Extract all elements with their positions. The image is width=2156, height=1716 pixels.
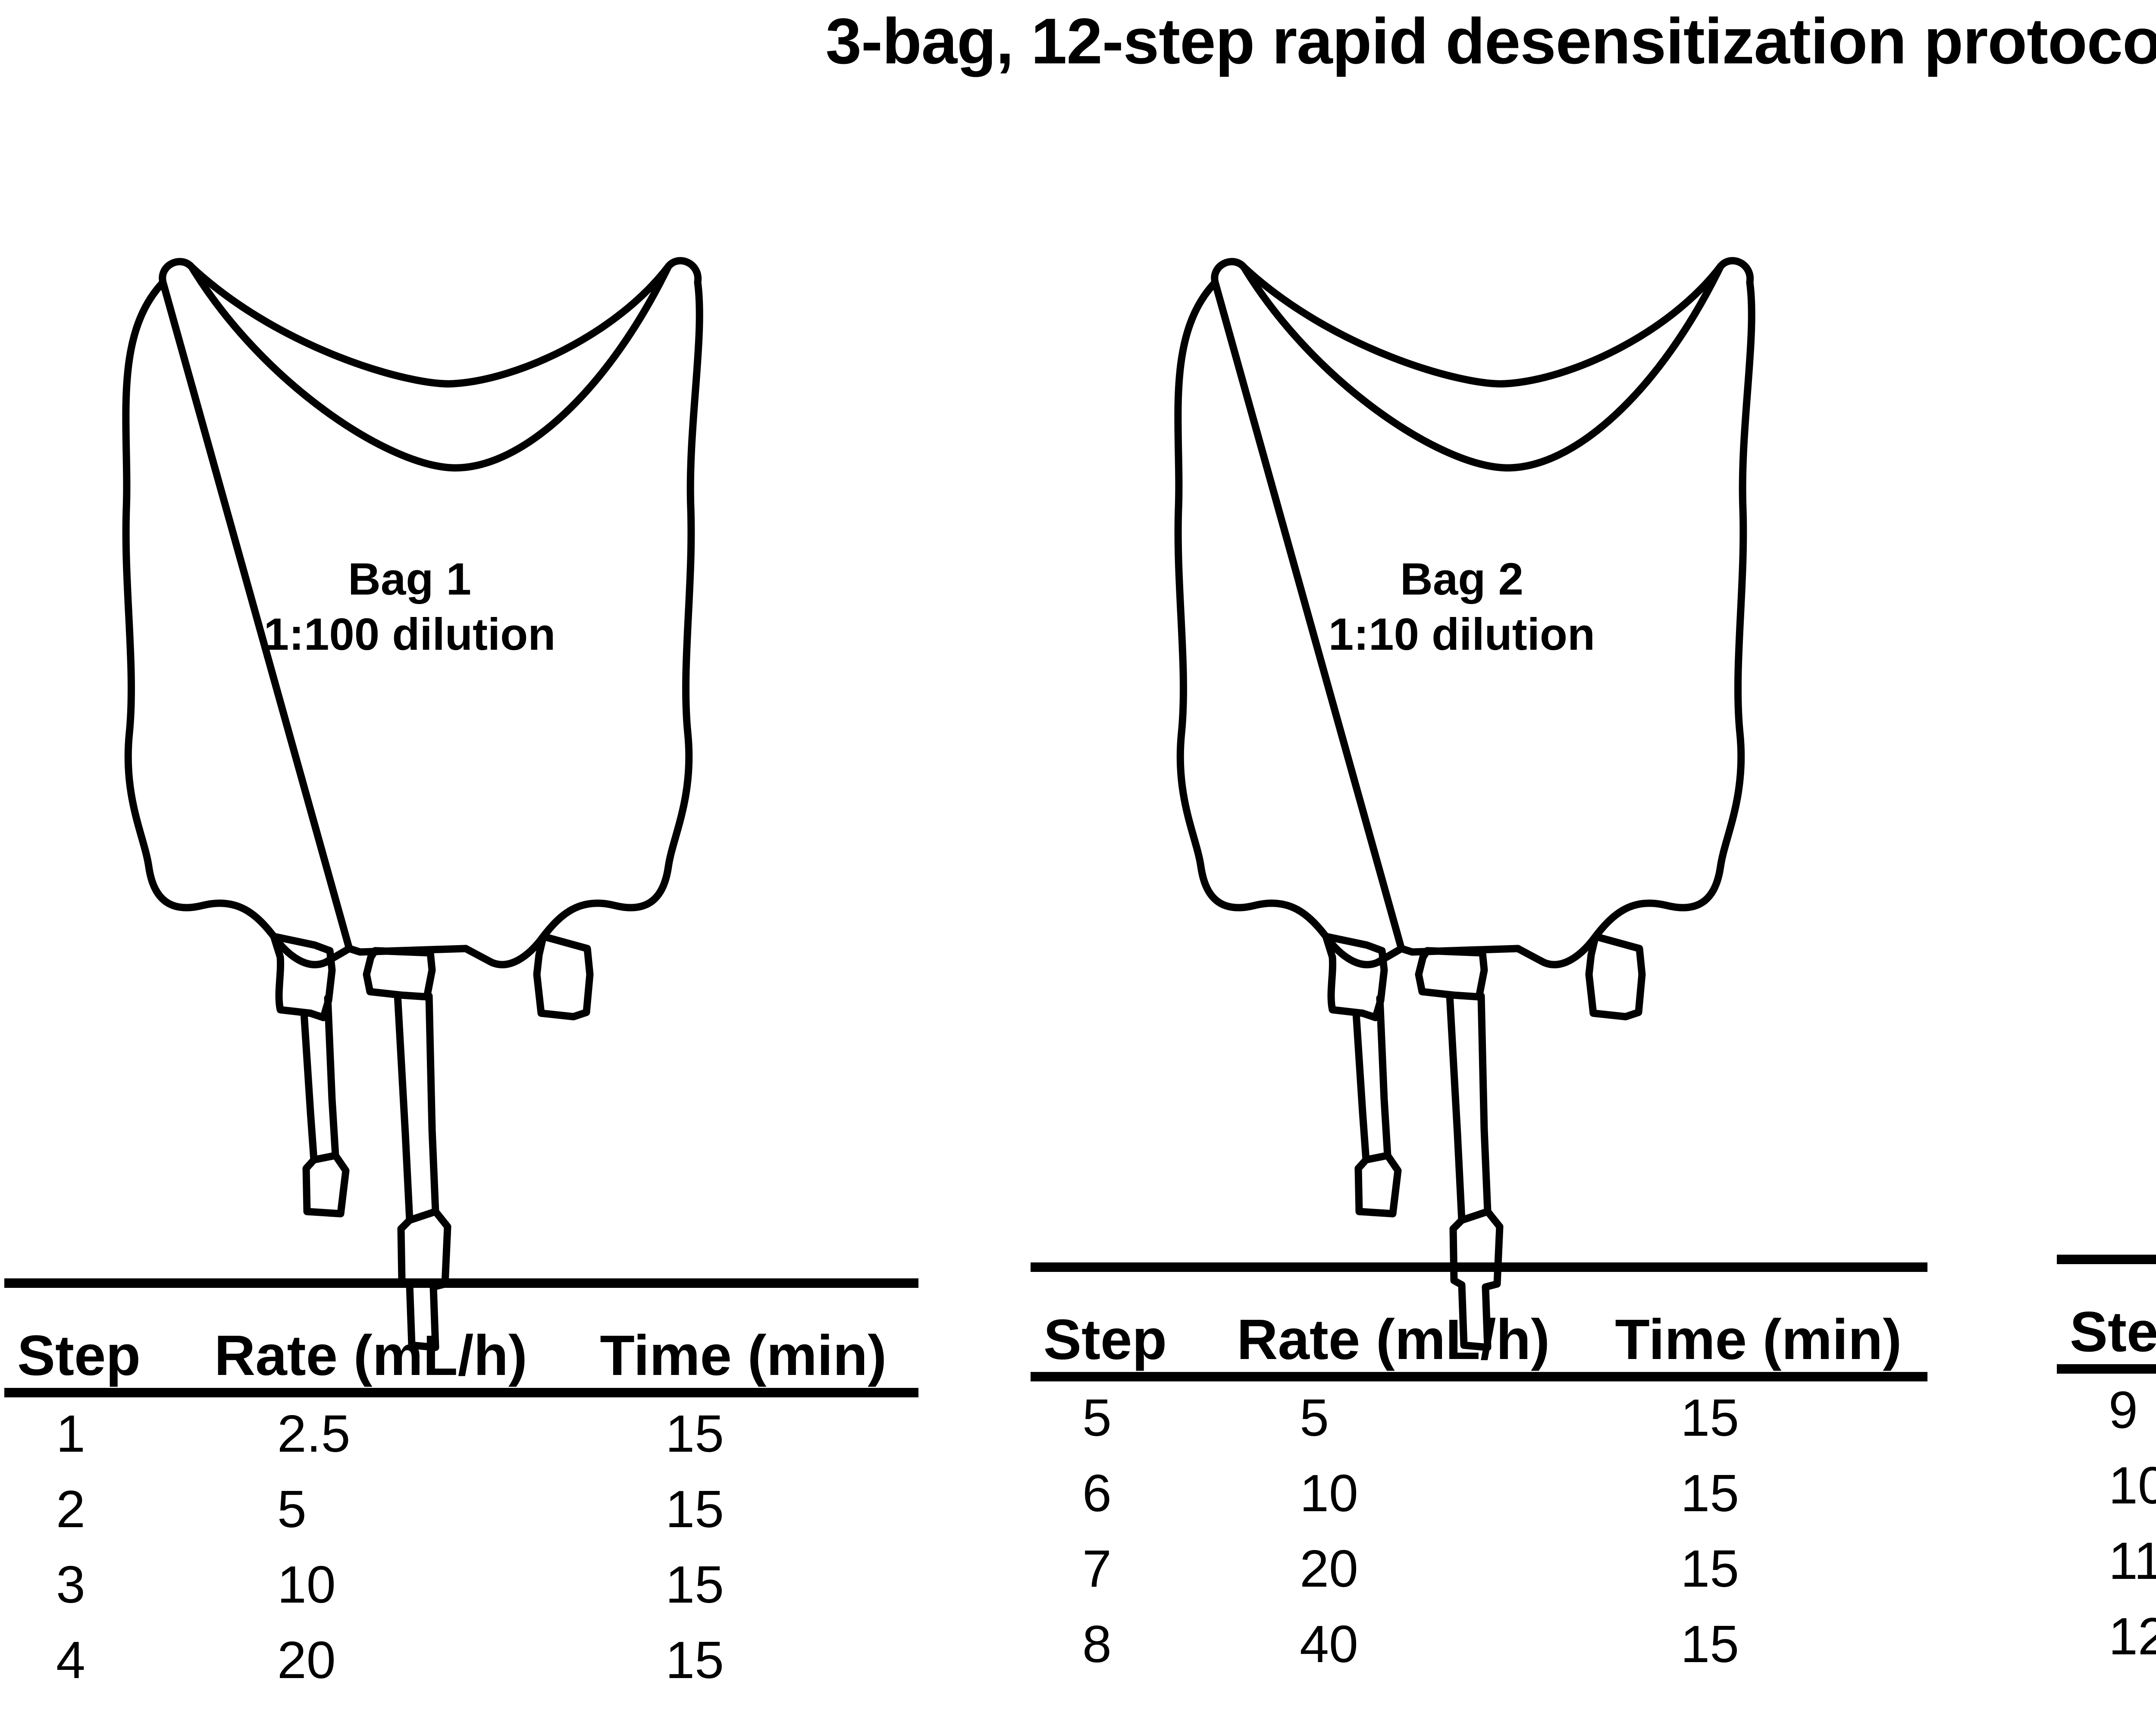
cell-time: 15 <box>1598 1463 1927 1523</box>
table-rule-top <box>4 1278 918 1288</box>
column-header-rate: Rate (mL/h) <box>1237 1307 1615 1372</box>
cell-rate: 2.5 <box>213 1403 583 1464</box>
cell-step: 9 <box>2057 1380 2156 1440</box>
cell-rate: 40 <box>1235 1614 1598 1674</box>
bag-1-label: Bag 1 1:100 dilution <box>108 552 711 662</box>
column-header-time: Time (min) <box>1615 1307 1927 1372</box>
column-header-rate: Rate (mL/h) <box>214 1323 600 1388</box>
cell-rate: 20 <box>1235 1538 1598 1599</box>
table-rule-top <box>2057 1255 2156 1264</box>
table-row: 12 80 173 <box>2057 1606 2156 1682</box>
protocol-table-bag-3: Step Rate (mL/h) Time (min) 9 10 15 10 2… <box>2057 1255 2156 1682</box>
table-row: 7 20 15 <box>1031 1538 1927 1614</box>
page-title: 3-bag, 12-step rapid desensitization pro… <box>0 0 2156 82</box>
cell-rate: 20 <box>213 1630 583 1690</box>
table-header-row: Step Rate (mL/h) Time (min) <box>2057 1264 2156 1364</box>
table-row: 10 20 15 <box>2057 1455 2156 1531</box>
table-rule-top <box>1031 1262 1927 1272</box>
cell-time: 15 <box>1598 1387 1927 1448</box>
table-row: 3 10 15 <box>4 1554 918 1630</box>
cell-step: 5 <box>1031 1387 1235 1448</box>
table-row: 1 2.5 15 <box>4 1403 918 1479</box>
table-row: 11 40 15 <box>2057 1531 2156 1606</box>
cell-time: 15 <box>583 1479 918 1539</box>
cell-step: 11 <box>2057 1531 2156 1591</box>
table-body: 1 2.5 15 2 5 15 3 10 15 4 20 15 <box>4 1397 918 1705</box>
table-row: 5 5 15 <box>1031 1387 1927 1463</box>
table-row: 9 10 15 <box>2057 1380 2156 1455</box>
column-header-step: Step <box>1031 1307 1237 1372</box>
iv-bag-2: Bag 2 1:10 dilution <box>1160 241 1764 1276</box>
cell-time: 15 <box>583 1630 918 1690</box>
bag-2-label: Bag 2 1:10 dilution <box>1160 552 1764 662</box>
cell-rate: 5 <box>1235 1387 1598 1448</box>
table-body: 5 5 15 6 10 15 7 20 15 8 40 15 <box>1031 1381 1927 1689</box>
cell-step: 2 <box>4 1479 213 1539</box>
cell-step: 3 <box>4 1554 213 1615</box>
column-header-step: Step <box>4 1323 214 1388</box>
table-rule-header <box>4 1388 918 1397</box>
cell-time: 15 <box>1598 1614 1927 1674</box>
cell-step: 4 <box>4 1630 213 1690</box>
cell-time: 15 <box>583 1403 918 1464</box>
table-row: 8 40 15 <box>1031 1614 1927 1689</box>
iv-bag-1: Bag 1 1:100 dilution <box>108 241 711 1276</box>
cell-step: 6 <box>1031 1463 1235 1523</box>
iv-bag-icon <box>108 241 711 1276</box>
column-header-time: Time (min) <box>600 1323 918 1388</box>
cell-time: 15 <box>583 1554 918 1615</box>
table-header-row: Step Rate (mL/h) Time (min) <box>4 1288 918 1388</box>
cell-time: 15 <box>1598 1538 1927 1599</box>
table-header-row: Step Rate (mL/h) Time (min) <box>1031 1272 1927 1372</box>
cell-step: 7 <box>1031 1538 1235 1599</box>
column-header-step: Step <box>2057 1300 2156 1364</box>
cell-rate: 10 <box>1235 1463 1598 1523</box>
protocol-table-bag-2: Step Rate (mL/h) Time (min) 5 5 15 6 10 … <box>1031 1262 1927 1689</box>
table-row: 4 20 15 <box>4 1630 918 1705</box>
cell-step: 10 <box>2057 1455 2156 1516</box>
table-rule-header <box>1031 1372 1927 1381</box>
protocol-table-bag-1: Step Rate (mL/h) Time (min) 1 2.5 15 2 5… <box>4 1278 918 1705</box>
iv-bag-icon <box>1160 241 1764 1276</box>
table-body: 9 10 15 10 20 15 11 40 15 12 80 173 <box>2057 1374 2156 1682</box>
cell-rate: 5 <box>213 1479 583 1539</box>
cell-step: 12 <box>2057 1606 2156 1666</box>
table-row: 2 5 15 <box>4 1479 918 1554</box>
table-rule-header <box>2057 1364 2156 1374</box>
cell-step: 1 <box>4 1403 213 1464</box>
table-row: 6 10 15 <box>1031 1463 1927 1538</box>
figure-canvas: 3-bag, 12-step rapid desensitization pro… <box>0 0 2156 1716</box>
cell-step: 8 <box>1031 1614 1235 1674</box>
cell-rate: 10 <box>213 1554 583 1615</box>
